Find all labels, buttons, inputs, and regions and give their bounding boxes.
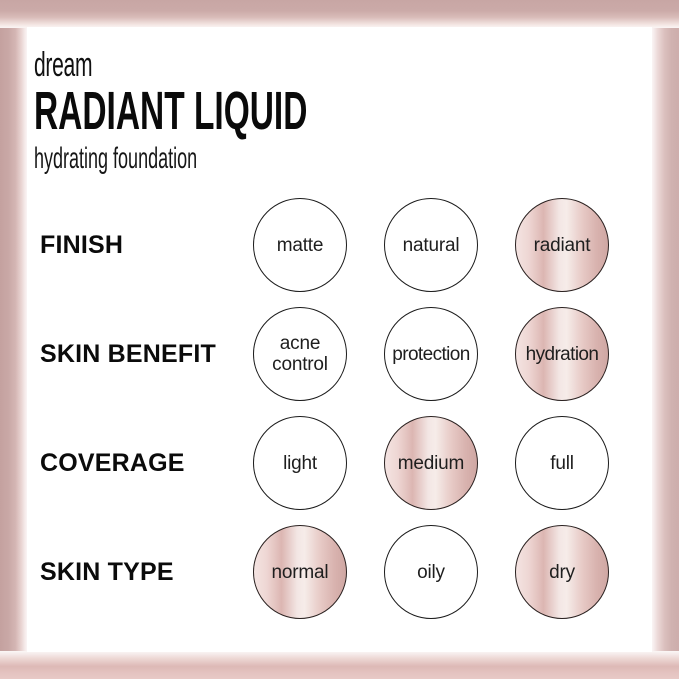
option-group-coverage: light medium full	[239, 409, 649, 518]
option-bubble-full[interactable]: full	[515, 416, 609, 510]
attribute-row-skin-type: SKIN TYPE normal oily dry	[27, 518, 652, 627]
option-group-finish: matte natural radiant	[239, 191, 649, 300]
attribute-grid: FINISH matte natural radiant SKIN BENEFI…	[27, 191, 652, 627]
option-bubble-hydration[interactable]: hydration	[515, 307, 609, 401]
option-bubble-natural[interactable]: natural	[384, 198, 478, 292]
option-group-skin-type: normal oily dry	[239, 518, 649, 627]
option-bubble-dry[interactable]: dry	[515, 525, 609, 619]
attribute-row-coverage: COVERAGE light medium full	[27, 409, 652, 518]
option-bubble-matte[interactable]: matte	[253, 198, 347, 292]
option-bubble-light[interactable]: light	[253, 416, 347, 510]
option-bubble-radiant[interactable]: radiant	[515, 198, 609, 292]
option-bubble-medium[interactable]: medium	[384, 416, 478, 510]
attribute-label-skin-benefit: SKIN BENEFIT	[40, 300, 216, 409]
product-infographic-frame: dream RADIANT LIQUID hydrating foundatio…	[0, 0, 679, 679]
option-label-dry: dry	[549, 562, 575, 583]
attribute-row-finish: FINISH matte natural radiant	[27, 191, 652, 300]
option-label-full: full	[550, 453, 574, 474]
option-bubble-acne-control[interactable]: acne control	[253, 307, 347, 401]
option-bubble-oily[interactable]: oily	[384, 525, 478, 619]
attribute-row-skin-benefit: SKIN BENEFIT acne control protection hyd…	[27, 300, 652, 409]
option-group-skin-benefit: acne control protection hydration	[239, 300, 649, 409]
product-name: RADIANT LIQUID	[34, 84, 294, 138]
option-label-acne-control: acne control	[262, 333, 338, 375]
attribute-label-finish: FINISH	[40, 191, 123, 300]
option-bubble-protection[interactable]: protection	[384, 307, 478, 401]
product-descriptor: hydrating foundation	[34, 144, 286, 174]
option-label-normal: normal	[272, 562, 329, 583]
option-label-protection: protection	[392, 344, 469, 365]
option-label-hydration: hydration	[526, 344, 599, 365]
option-label-radiant: radiant	[534, 235, 591, 256]
brand-name: dream	[34, 48, 294, 82]
title-block: dream RADIANT LIQUID hydrating foundatio…	[34, 48, 454, 174]
option-label-matte: matte	[277, 235, 324, 256]
attribute-label-coverage: COVERAGE	[40, 409, 185, 518]
option-label-medium: medium	[398, 453, 464, 474]
option-label-natural: natural	[403, 235, 460, 256]
attribute-label-skin-type: SKIN TYPE	[40, 518, 174, 627]
option-label-oily: oily	[417, 562, 445, 583]
content-canvas: dream RADIANT LIQUID hydrating foundatio…	[27, 27, 652, 652]
option-bubble-normal[interactable]: normal	[253, 525, 347, 619]
option-label-light: light	[283, 453, 317, 474]
